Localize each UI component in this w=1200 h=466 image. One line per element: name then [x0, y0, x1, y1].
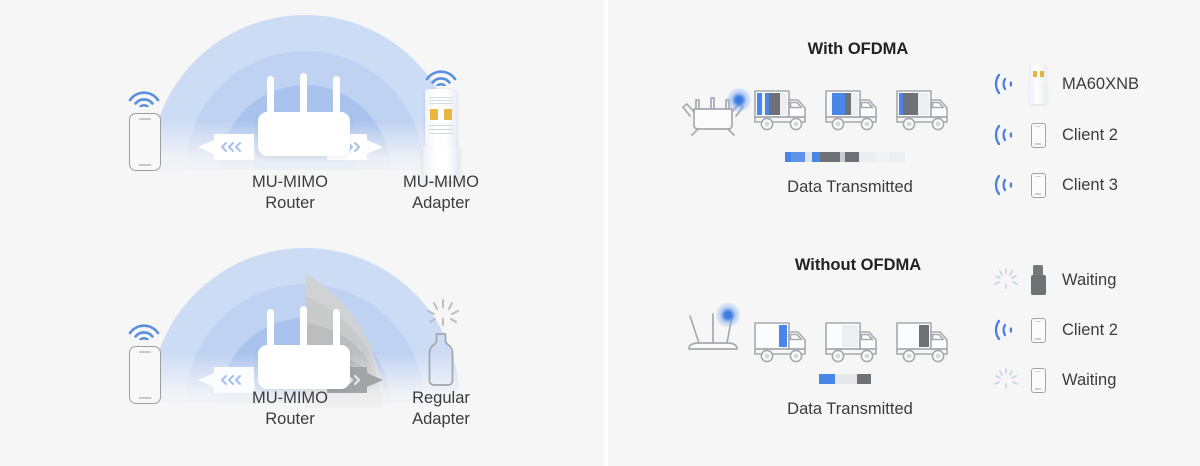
data-truck: [825, 86, 887, 134]
client-label: Waiting: [1053, 371, 1116, 390]
waiting-spinner-icon: [423, 298, 463, 332]
router-caption: MU-MIMO Router: [200, 172, 380, 214]
client-label: Waiting: [1053, 271, 1116, 290]
truck-cargo-segments: [779, 325, 787, 347]
client-label: Client 3: [1053, 176, 1118, 195]
data-transmitted-bar: [819, 374, 871, 384]
data-truck: [754, 318, 816, 366]
client-label: Client 2: [1053, 321, 1118, 340]
list-item: Client 2: [993, 305, 1118, 355]
wifi-icon: [424, 62, 458, 86]
router-body: [258, 345, 350, 389]
data-truck: [754, 86, 816, 134]
truck-cargo-segments: [828, 93, 858, 115]
router-caption-line2: Router: [200, 409, 380, 430]
data-truck: [825, 318, 887, 366]
smartphone-icon: [1023, 173, 1053, 198]
usb-label-print: [429, 97, 453, 104]
smartphone-icon: [1023, 123, 1053, 148]
mu-mimo-router-icon: [258, 76, 350, 156]
section-without-ofdma: Without OFDMA: [608, 233, 1200, 466]
mu-mimo-router-icon: [258, 309, 350, 389]
smartphone-icon: [129, 113, 161, 171]
wifi-arc-icon: [993, 317, 1023, 343]
list-item: Client 3: [993, 160, 1139, 210]
truck-cargo-segments: [842, 325, 858, 347]
list-item: Waiting: [993, 355, 1118, 405]
arrow-left-chevrons-icon: [196, 132, 254, 162]
client-list: Waiting Client 2: [993, 255, 1118, 405]
data-truck: [896, 86, 958, 134]
router-body: [258, 112, 350, 156]
waiting-spinner-icon: [993, 367, 1023, 393]
data-transmitted-label: Data Transmitted: [700, 400, 1000, 419]
data-transmitted-label: Data Transmitted: [700, 178, 1000, 197]
router-caption-line1: MU-MIMO: [200, 388, 380, 409]
usb-gold-contacts: [430, 109, 452, 120]
usb-label-print: [429, 125, 453, 137]
scene-mu-mimo-unsupported: MU-MIMO Router Regular Adapter: [0, 233, 604, 466]
data-truck: [896, 318, 958, 366]
adapter-caption-line1: MU-MIMO: [366, 172, 516, 193]
data-transmitted-bar: [785, 152, 905, 162]
router-caption-line1: MU-MIMO: [200, 172, 380, 193]
client-label: MA60XNB: [1053, 75, 1139, 94]
adapter-caption-line1: Regular: [366, 388, 516, 409]
usb-wifi-adapter-icon: [1023, 64, 1053, 104]
list-item: Waiting: [993, 255, 1118, 305]
waiting-spinner-icon: [993, 267, 1023, 293]
wifi-icon: [127, 83, 161, 107]
router-caption: MU-MIMO Router: [200, 388, 380, 430]
section-with-ofdma: With OFDMA: [608, 0, 1200, 233]
truck-cargo-segments: [899, 93, 929, 115]
adapter-caption: Regular Adapter: [366, 388, 516, 430]
signal-glow-icon: [727, 88, 751, 112]
smartphone-icon: [1023, 368, 1053, 393]
usb-wifi-adapter-icon: [423, 89, 459, 181]
signal-glow-icon: [716, 303, 740, 327]
usb-adapter-outline-icon: [424, 332, 458, 386]
client-label: Client 2: [1053, 126, 1118, 145]
smartphone-icon: [129, 346, 161, 404]
adapter-caption-line2: Adapter: [366, 193, 516, 214]
client-list: MA60XNB Client 2: [993, 58, 1139, 210]
adapter-caption-line2: Adapter: [366, 409, 516, 430]
section-title: With OFDMA: [678, 40, 1038, 59]
truck-cargo-segments: [919, 325, 929, 347]
list-item: Client 2: [993, 110, 1139, 160]
usb-adapter-filled-icon: [1023, 265, 1053, 295]
router-caption-line2: Router: [200, 193, 380, 214]
list-item: MA60XNB: [993, 58, 1139, 110]
truck-cargo-segments: [757, 93, 787, 115]
adapter-caption: MU-MIMO Adapter: [366, 172, 516, 214]
wifi-arc-icon: [993, 71, 1023, 97]
wifi-icon: [127, 316, 161, 340]
smartphone-icon: [1023, 318, 1053, 343]
scene-mu-mimo-supported: MU-MIMO Router MU-MIMO Adapter: [0, 0, 604, 233]
wifi-arc-icon: [993, 172, 1023, 198]
section-title: Without OFDMA: [678, 256, 1038, 275]
left-panel-mu-mimo: MU-MIMO Router MU-MIMO Adapter: [0, 0, 604, 466]
infographic-canvas: MU-MIMO Router MU-MIMO Adapter: [0, 0, 1200, 466]
wifi-arc-icon: [993, 122, 1023, 148]
